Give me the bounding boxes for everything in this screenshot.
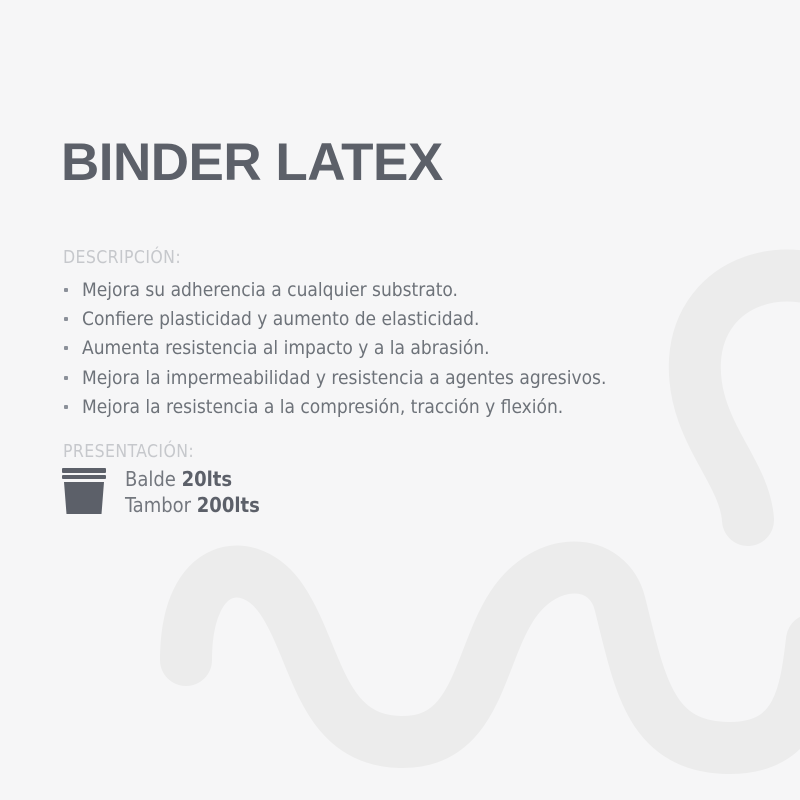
bullet-icon bbox=[64, 288, 68, 292]
list-item-label: Confiere plasticidad y aumento de elasti… bbox=[82, 308, 479, 330]
list-item-label: Mejora la impermeabilidad y resistencia … bbox=[82, 367, 606, 389]
list-item: Mejora la resistencia a la compresión, t… bbox=[63, 393, 606, 422]
bullet-icon bbox=[64, 317, 68, 321]
bullet-icon bbox=[64, 376, 68, 380]
list-item: Mejora la impermeabilidad y resistencia … bbox=[63, 364, 606, 393]
presentation-item: Tambor 200lts bbox=[125, 493, 260, 519]
presentation-block: Balde 20lts Tambor 200lts bbox=[61, 466, 260, 518]
list-item: Aumenta resistencia al impacto y a la ab… bbox=[63, 334, 606, 363]
presentation-container-label: Tambor bbox=[125, 493, 191, 517]
presentation-size-label: 20lts bbox=[182, 467, 233, 491]
description-list: Mejora su adherencia a cualquier substra… bbox=[63, 276, 606, 422]
paint-bucket-icon bbox=[61, 466, 107, 516]
product-spec-card: BINDER LATEX DESCRIPCIÓN: Mejora su adhe… bbox=[0, 0, 800, 800]
description-section-label: DESCRIPCIÓN: bbox=[63, 247, 181, 269]
bullet-icon bbox=[64, 346, 68, 350]
list-item: Mejora su adherencia a cualquier substra… bbox=[63, 276, 606, 305]
presentation-container-label: Balde bbox=[125, 467, 176, 491]
presentation-section-label: PRESENTACIÓN: bbox=[63, 441, 194, 463]
list-item-label: Aumenta resistencia al impacto y a la ab… bbox=[82, 337, 490, 359]
list-item: Confiere plasticidad y aumento de elasti… bbox=[63, 305, 606, 334]
page-title: BINDER LATEX bbox=[61, 132, 443, 194]
presentation-item: Balde 20lts bbox=[125, 467, 260, 493]
content-area: BINDER LATEX DESCRIPCIÓN: Mejora su adhe… bbox=[0, 0, 800, 800]
list-item-label: Mejora su adherencia a cualquier substra… bbox=[82, 279, 458, 301]
bullet-icon bbox=[64, 405, 68, 409]
list-item-label: Mejora la resistencia a la compresión, t… bbox=[82, 396, 563, 418]
presentation-size-label: 200lts bbox=[197, 493, 260, 517]
presentation-lines: Balde 20lts Tambor 200lts bbox=[125, 466, 260, 518]
